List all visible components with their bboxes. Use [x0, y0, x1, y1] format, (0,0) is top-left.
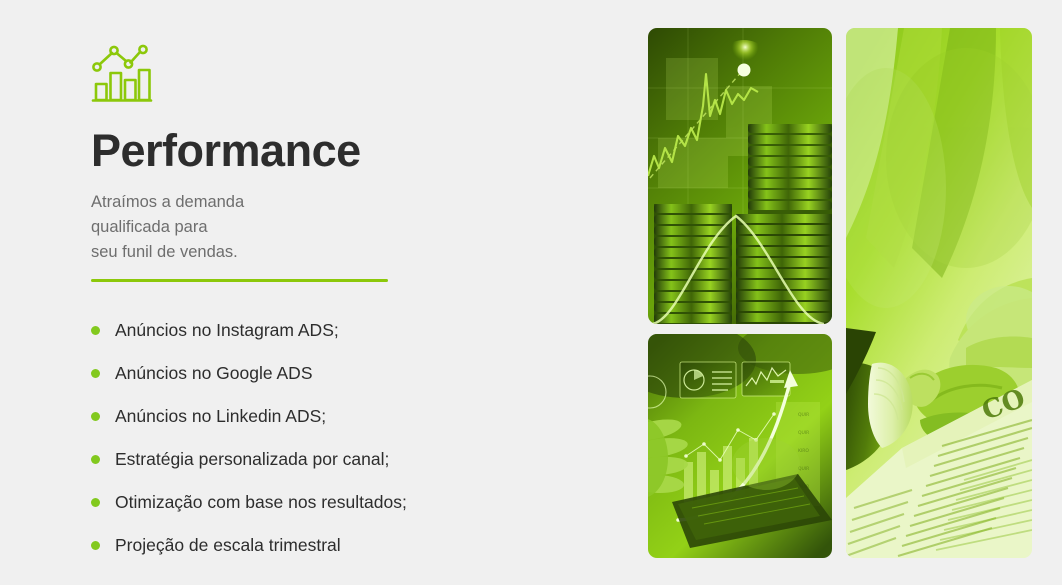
accent-divider: [91, 279, 388, 282]
list-item-label: Anúncios no Instagram ADS;: [115, 320, 339, 341]
photo-handshake-contract: CO: [846, 28, 1032, 558]
svg-text:QUIR: QUIR: [798, 412, 809, 418]
svg-text:KIRO: KIRO: [798, 448, 809, 454]
bullet-dot-icon: [91, 455, 100, 464]
list-item: Anúncios no Linkedin ADS;: [91, 395, 591, 438]
bullet-dot-icon: [91, 369, 100, 378]
photo-chart-coins: [648, 28, 832, 324]
list-item-label: Anúncios no Linkedin ADS;: [115, 406, 326, 427]
chart-coins-artwork: [648, 28, 832, 324]
list-item-label: Projeção de escala trimestral: [115, 535, 341, 556]
list-item-label: Otimização com base nos resultados;: [115, 492, 407, 513]
list-item: Projeção de escala trimestral: [91, 524, 591, 567]
list-item: Estratégia personalizada por canal;: [91, 438, 591, 481]
bullet-dot-icon: [91, 541, 100, 550]
page-subtitle: Atraímos a demanda qualificada para seu …: [91, 190, 591, 265]
svg-text:QUIR: QUIR: [798, 430, 809, 436]
services-list: Anúncios no Instagram ADS; Anúncios no G…: [91, 309, 591, 567]
handshake-contract-artwork: CO: [846, 28, 1032, 558]
bullet-dot-icon: [91, 498, 100, 507]
list-item-label: Anúncios no Google ADS: [115, 363, 313, 384]
page-title: Performance: [91, 128, 591, 173]
laptop-dashboard-artwork: QUIR QUIR KIRO QUIR QUIR: [648, 334, 832, 558]
performance-slide: Performance Atraímos a demanda qualifica…: [0, 0, 1062, 585]
bullet-dot-icon: [91, 326, 100, 335]
bar-chart-line-icon: [91, 42, 153, 104]
photo-laptop-dashboard: QUIR QUIR KIRO QUIR QUIR: [648, 334, 832, 558]
left-content-panel: Performance Atraímos a demanda qualifica…: [91, 42, 591, 567]
image-grid: QUIR QUIR KIRO QUIR QUIR: [648, 28, 1032, 558]
list-item-label: Estratégia personalizada por canal;: [115, 449, 389, 470]
list-item: Anúncios no Instagram ADS;: [91, 309, 591, 352]
list-item: Anúncios no Google ADS: [91, 352, 591, 395]
list-item: Otimização com base nos resultados;: [91, 481, 591, 524]
bullet-dot-icon: [91, 412, 100, 421]
